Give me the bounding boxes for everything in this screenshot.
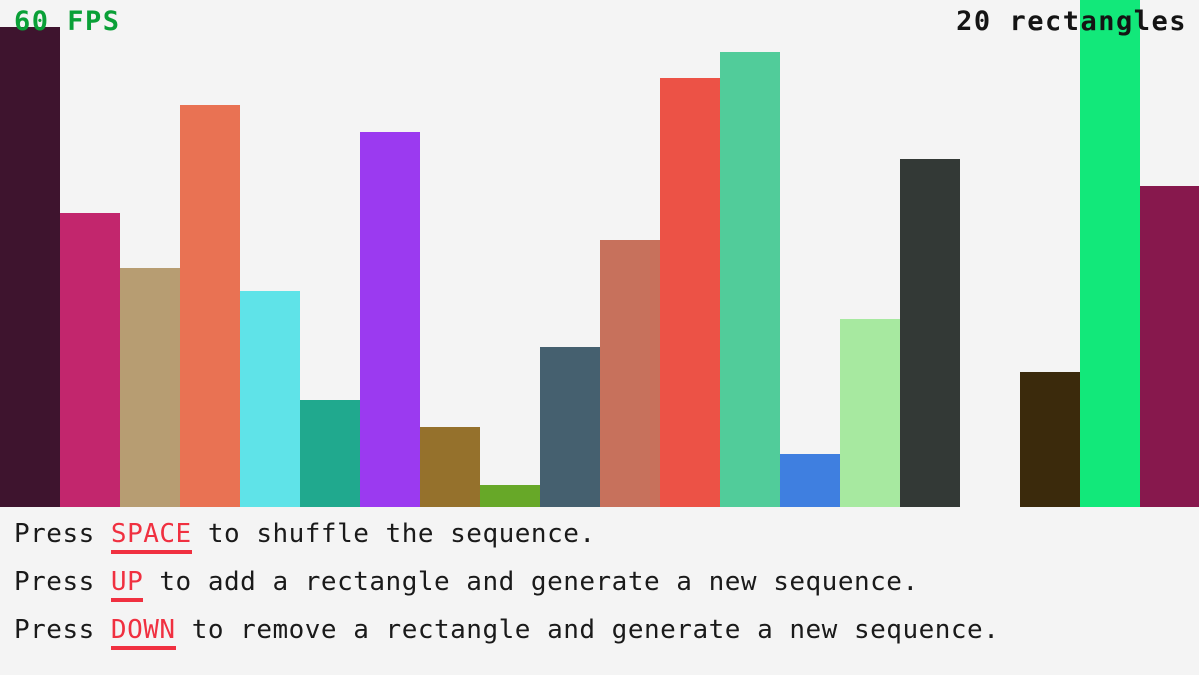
bar-rectangle (780, 454, 840, 507)
bar-rectangle (1020, 372, 1080, 507)
instruction-prefix: Press (14, 567, 111, 597)
bar-rectangle (420, 427, 480, 507)
instruction-suffix: to remove a rectangle and generate a new… (176, 615, 1000, 645)
instruction-prefix: Press (14, 615, 111, 645)
instruction-line: Press UP to add a rectangle and generate… (14, 569, 1199, 595)
bar-rectangle (60, 213, 120, 507)
bar-rectangle (900, 159, 960, 507)
rectangle-sequence-canvas[interactable] (0, 0, 1199, 507)
key-badge-up[interactable]: UP (111, 567, 143, 602)
bar-rectangle (720, 52, 780, 507)
app-root: 60 FPS 20 rectangles Press SPACE to shuf… (0, 0, 1199, 675)
bar-rectangle (0, 27, 60, 507)
bar-rectangle (540, 347, 600, 507)
instruction-suffix: to shuffle the sequence. (192, 519, 596, 549)
instruction-prefix: Press (14, 519, 111, 549)
bar-rectangle (1080, 0, 1140, 507)
bar-rectangle (180, 105, 240, 507)
bar-rectangle (240, 291, 300, 507)
bar-rectangle (1140, 186, 1199, 507)
key-badge-down[interactable]: DOWN (111, 615, 176, 650)
instruction-suffix: to add a rectangle and generate a new se… (143, 567, 918, 597)
bar-rectangle (480, 485, 540, 507)
instructions-panel: Press SPACE to shuffle the sequence.Pres… (0, 507, 1199, 675)
instruction-line: Press DOWN to remove a rectangle and gen… (14, 617, 1199, 643)
bar-rectangle (600, 240, 660, 507)
fps-counter: 60 FPS (14, 8, 121, 35)
bar-rectangle (360, 132, 420, 507)
bar-rectangle (840, 319, 900, 507)
bar-rectangle (300, 400, 360, 507)
bar-rectangle (120, 268, 180, 507)
key-badge-space[interactable]: SPACE (111, 519, 192, 554)
rectangle-count-label: 20 rectangles (956, 8, 1187, 35)
bar-rectangle (660, 78, 720, 507)
instruction-line: Press SPACE to shuffle the sequence. (14, 521, 1199, 547)
